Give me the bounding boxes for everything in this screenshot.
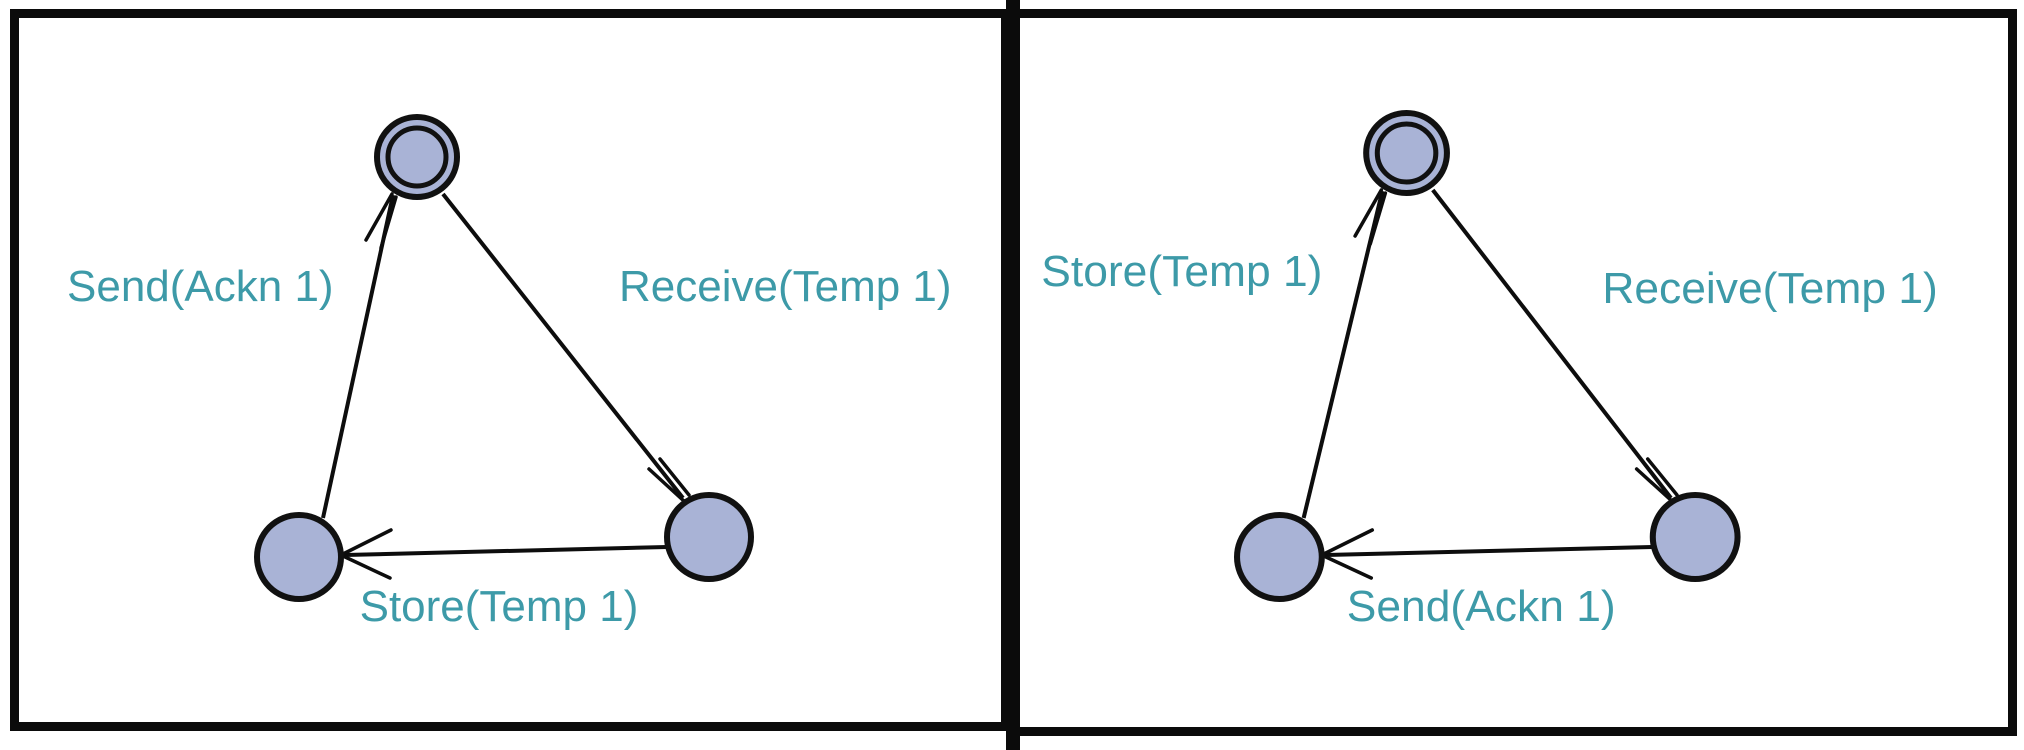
edge-send-ackn: [1324, 530, 1653, 578]
edge-store-temp: [343, 530, 667, 578]
state-bottom-right[interactable]: [667, 495, 751, 579]
edge-receive-temp: [443, 194, 689, 502]
state-top-accepting[interactable]: [1366, 113, 1447, 193]
edge-send-ackn-line: [1326, 547, 1653, 555]
panel-divider: [1006, 0, 1020, 750]
state-bottom-right-circle: [1653, 495, 1738, 579]
state-top-accepting[interactable]: [377, 117, 457, 197]
edge-store-temp: [1304, 190, 1386, 518]
state-bottom-left[interactable]: [257, 515, 341, 599]
state-bottom-left-circle: [1237, 515, 1322, 599]
left-state-diagram: Send(Ackn 1) Receive(Temp 1) Store(Temp …: [19, 18, 1001, 722]
state-bottom-right[interactable]: [1653, 495, 1738, 579]
panel-left: Send(Ackn 1) Receive(Temp 1) Store(Temp …: [10, 9, 1010, 731]
figure-root: Send(Ackn 1) Receive(Temp 1) Store(Temp …: [0, 0, 2024, 750]
edge-receive-temp: [1433, 190, 1677, 502]
label-store-temp: Store(Temp 1): [360, 582, 639, 631]
label-send-ackn: Send(Ackn 1): [67, 262, 334, 311]
edge-receive-temp-line: [1433, 190, 1671, 498]
right-state-diagram: Store(Temp 1) Receive(Temp 1) Send(Ackn …: [1013, 18, 2008, 727]
panel-right: Store(Temp 1) Receive(Temp 1) Send(Ackn …: [1013, 9, 2017, 736]
edge-store-temp-line: [345, 547, 667, 555]
state-bottom-left-circle: [257, 515, 341, 599]
edge-receive-temp-line: [443, 194, 683, 498]
label-send-ackn: Send(Ackn 1): [1347, 582, 1616, 631]
state-bottom-left[interactable]: [1237, 515, 1322, 599]
state-bottom-right-circle: [667, 495, 751, 579]
label-store-temp: Store(Temp 1): [1041, 247, 1322, 296]
label-receive-temp: Receive(Temp 1): [1602, 264, 1937, 313]
label-receive-temp: Receive(Temp 1): [619, 262, 952, 311]
edge-send-ackn: [323, 194, 396, 518]
